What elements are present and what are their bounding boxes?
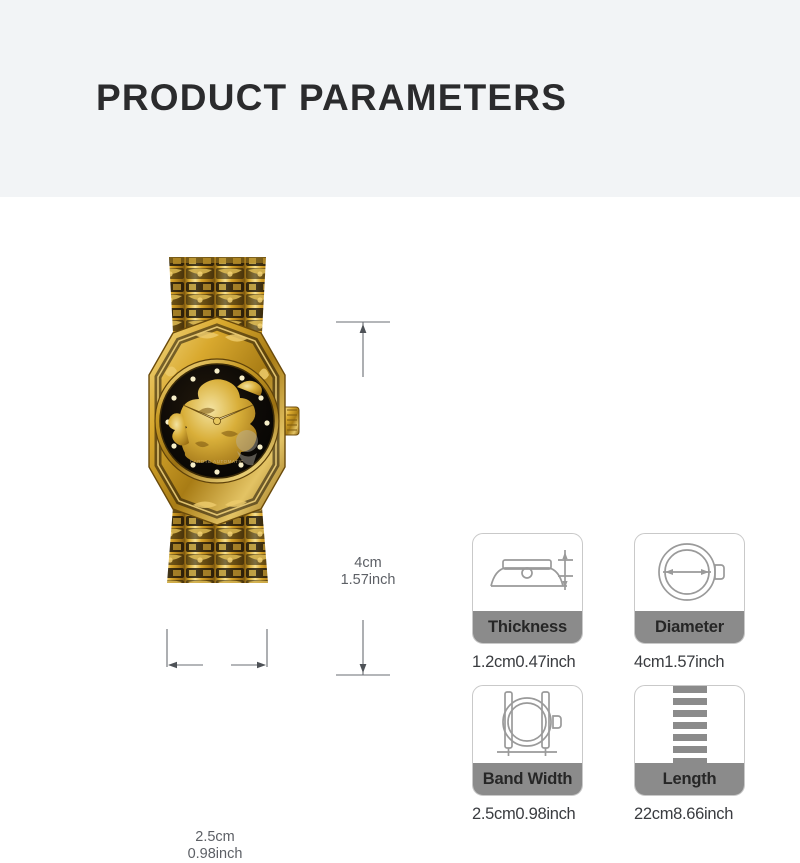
- spec-card-length: Length: [634, 685, 745, 796]
- spec-cell-band-width: Band Width 2.5cm0.98inch: [472, 685, 587, 824]
- spec-label-thickness: Thickness: [488, 618, 567, 637]
- spec-value-diameter: 4cm1.57inch: [634, 653, 749, 672]
- horizontal-dimension-cm: 2.5cm: [163, 829, 267, 846]
- watch-band-width-icon: [473, 686, 582, 763]
- spec-value-length: 22cm8.66inch: [634, 805, 749, 824]
- svg-text:CARDTE AUTOMATIC: CARDTE AUTOMATIC: [190, 459, 244, 464]
- product-photo: CARDTE AUTOMATIC: [125, 255, 310, 585]
- spec-value-thickness: 1.2cm0.47inch: [472, 653, 587, 672]
- spec-card-thickness: Thickness: [472, 533, 583, 644]
- page-title: PRODUCT PARAMETERS: [96, 77, 567, 119]
- spec-cell-thickness: Thickness 1.2cm0.47inch: [472, 533, 587, 672]
- spec-cell-length: Length 22cm8.66inch: [634, 685, 749, 824]
- spec-card-diameter: Diameter: [634, 533, 745, 644]
- spec-value-band-width: 2.5cm0.98inch: [472, 805, 587, 824]
- spec-cell-diameter: Diameter 4cm1.57inch: [634, 533, 749, 672]
- watch-thickness-icon: [473, 534, 582, 611]
- spec-card-band-width: Band Width: [472, 685, 583, 796]
- watch-diameter-icon: [635, 534, 744, 611]
- spec-card-grid: Thickness 1.2cm0.47inch: [472, 533, 762, 823]
- vertical-dimension-inch: 1.57inch: [331, 572, 405, 589]
- horizontal-dimension-label: 2.5cm 0.98inch: [163, 829, 267, 863]
- spec-label-band-thickness: Thickness: [473, 611, 582, 643]
- spec-label-length: Length: [663, 770, 717, 789]
- spec-label-diameter: Diameter: [655, 618, 724, 637]
- spec-label-band-width: Band Width: [483, 770, 573, 789]
- watch-strap-length-icon: [635, 686, 744, 763]
- content-area: CARDTE AUTOMATIC 4cm 1.57inch 2.5cm 0.98…: [0, 197, 800, 800]
- vertical-dimension-cm: 4cm: [331, 555, 405, 572]
- spec-label-band-band-width: Band Width: [473, 763, 582, 795]
- horizontal-dimension-inch: 0.98inch: [163, 846, 267, 863]
- spec-label-band-length: Length: [635, 763, 744, 795]
- header-band: PRODUCT PARAMETERS: [0, 0, 800, 197]
- vertical-dimension-guide: [328, 315, 408, 690]
- horizontal-dimension-guide: [163, 627, 273, 671]
- spec-label-band-diameter: Diameter: [635, 611, 744, 643]
- vertical-dimension-label: 4cm 1.57inch: [331, 555, 405, 589]
